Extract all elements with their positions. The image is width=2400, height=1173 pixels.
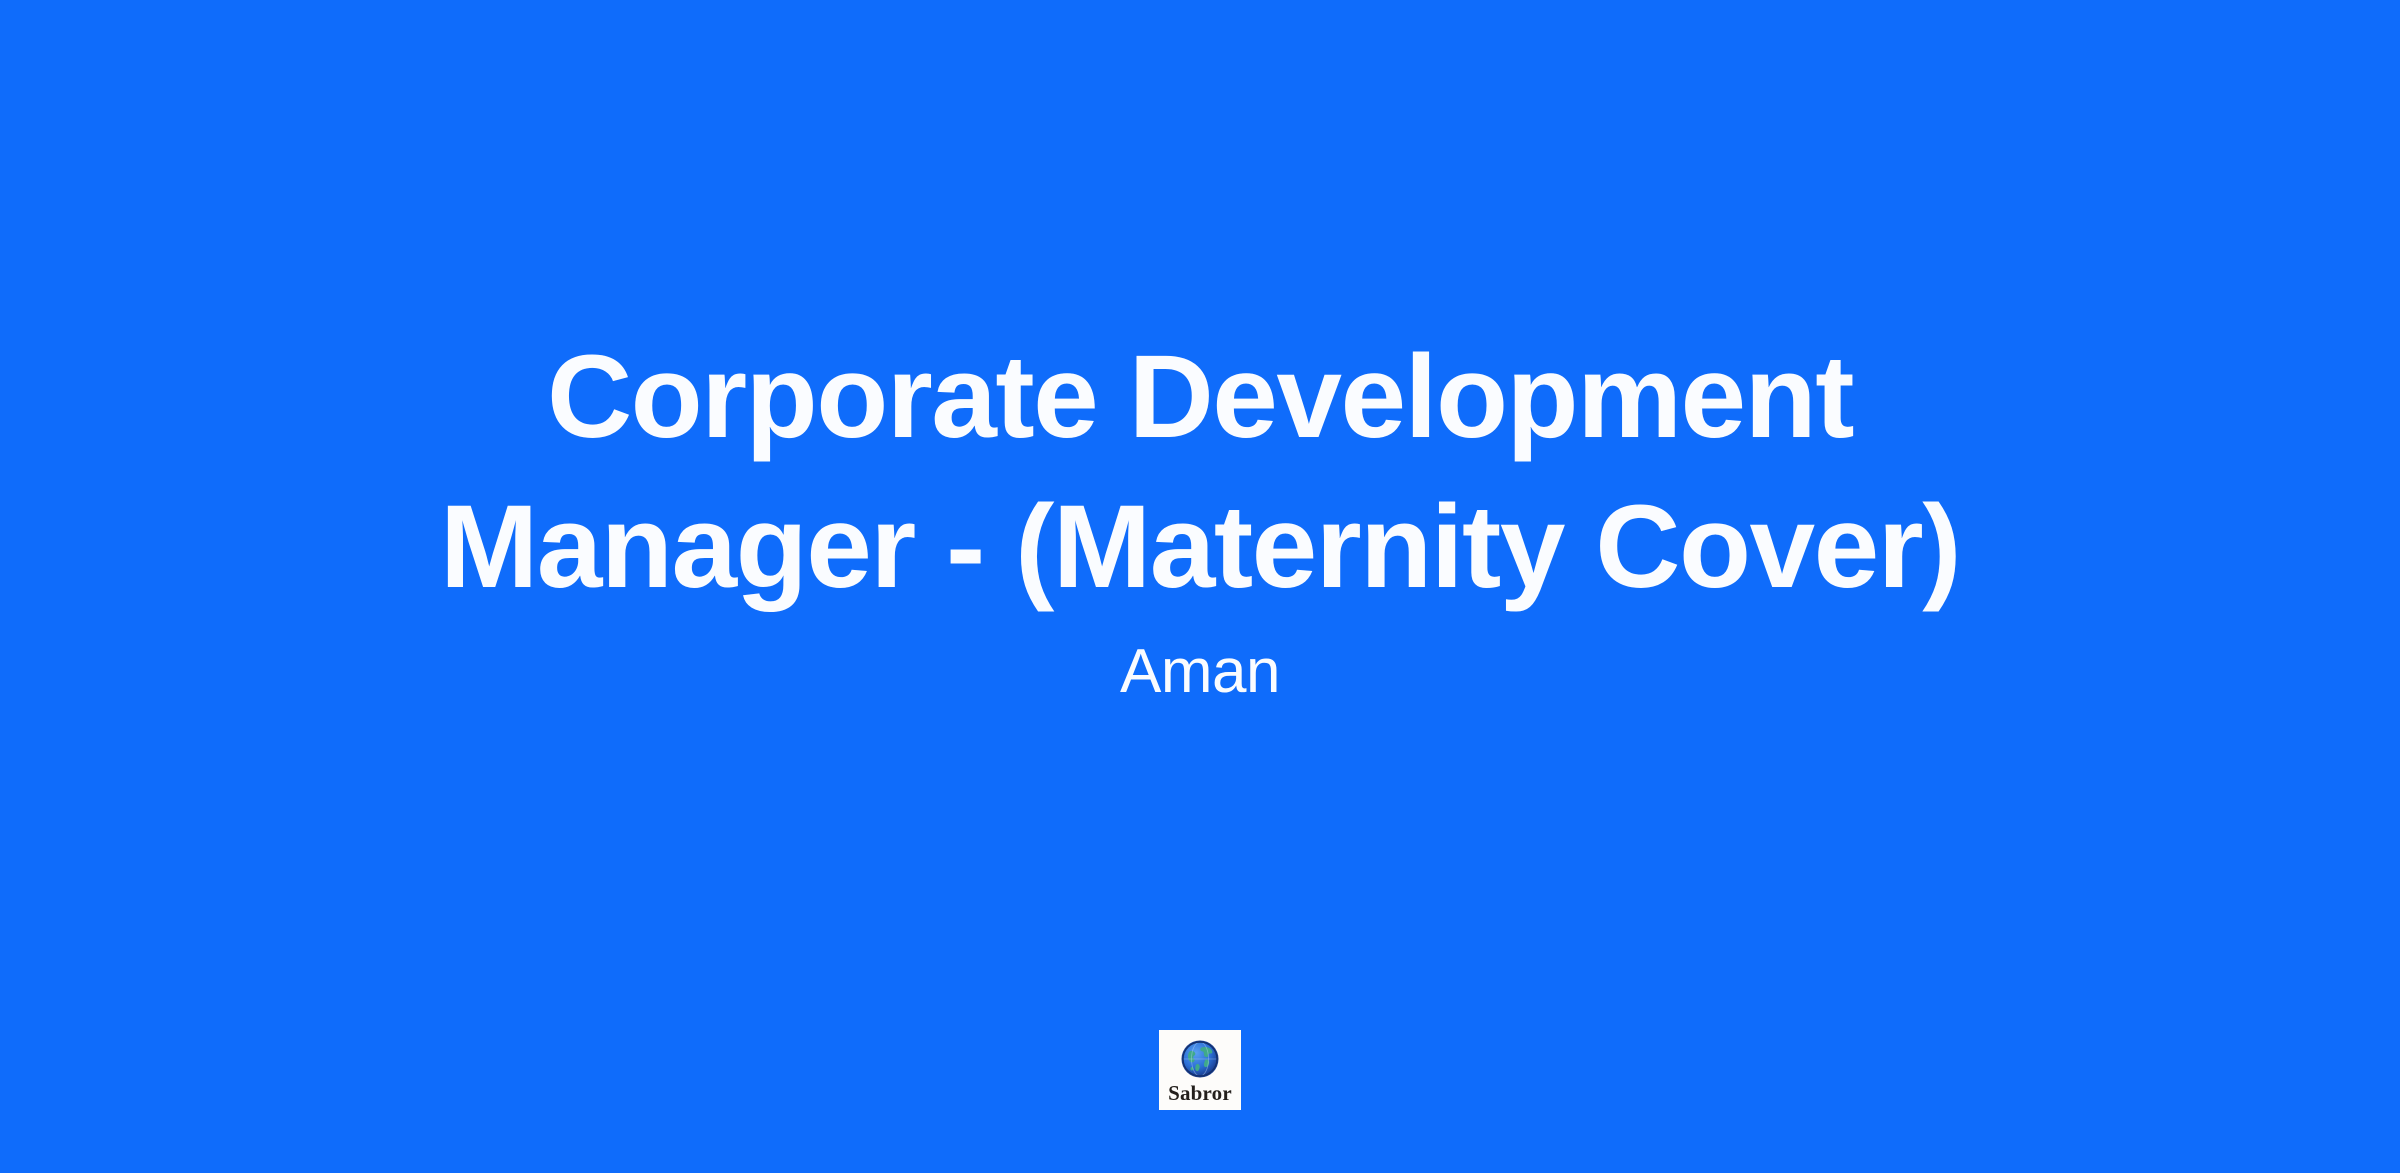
globe-icon xyxy=(1178,1037,1222,1081)
footer-logo-container: Sabror xyxy=(0,1030,2400,1110)
hero-text-block: Corporate Development Manager - (Materni… xyxy=(0,0,2400,1173)
page-subtitle: Aman xyxy=(380,636,2020,708)
brand-logo: Sabror xyxy=(1159,1030,1241,1110)
brand-wordmark: Sabror xyxy=(1168,1082,1232,1104)
page-title: Corporate Development Manager - (Materni… xyxy=(380,322,2020,622)
job-posting-title-slide: Corporate Development Manager - (Materni… xyxy=(0,0,2400,1173)
